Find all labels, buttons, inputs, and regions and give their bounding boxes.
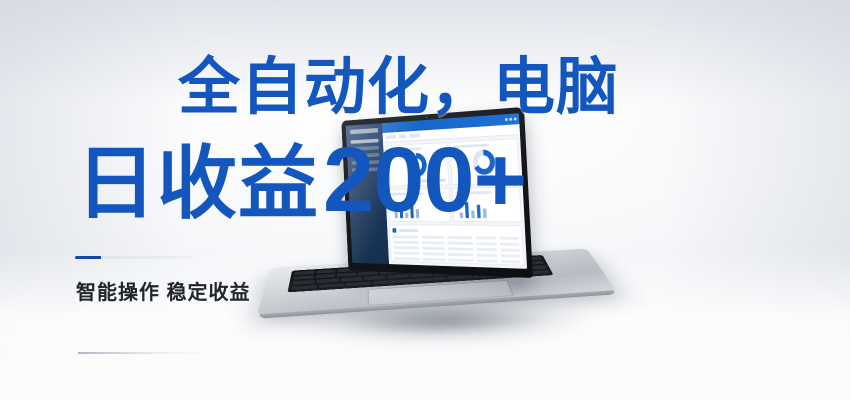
footer-rule [78, 352, 210, 354]
topbar-dot-icon[interactable] [514, 117, 517, 120]
subtitle-accent-rule [75, 256, 193, 259]
table-title [398, 229, 418, 232]
webcam-icon [425, 116, 427, 119]
card-label [455, 191, 491, 195]
toolbar-chip[interactable] [409, 133, 420, 137]
topbar-dot-icon[interactable] [509, 118, 512, 121]
dashboard-main [382, 113, 527, 269]
dashboard-table[interactable] [389, 225, 524, 266]
dashboard-card-row [385, 138, 520, 187]
metric-card-donut[interactable] [449, 138, 520, 185]
metric-card-donut[interactable] [385, 142, 449, 187]
donut-chart [406, 152, 427, 177]
laptop-lid [341, 107, 533, 278]
table-row[interactable] [393, 241, 520, 246]
donut-chart [472, 149, 495, 175]
sidebar-item[interactable] [351, 146, 379, 151]
metric-card-bars[interactable] [387, 188, 451, 222]
laptop-device [269, 105, 604, 362]
topbar-dot-icon[interactable] [505, 118, 508, 121]
dashboard-card-row [387, 186, 522, 222]
card-label [388, 147, 421, 151]
subtitle-text: 智能操作 稳定收益 [76, 276, 251, 305]
sidebar-logo [350, 128, 378, 134]
table-row[interactable] [394, 257, 521, 264]
bar-chart [455, 196, 518, 218]
card-sublabel [422, 179, 446, 182]
table-header [392, 228, 519, 234]
metric-card-bars[interactable] [452, 186, 522, 222]
card-sublabel [489, 177, 516, 181]
promo-banner: 全自动化，电脑 日收益 200+ 智能操作 稳定收益 [0, 0, 850, 400]
laptop-screen [346, 113, 527, 269]
table-icon [392, 228, 396, 233]
dashboard-content [383, 135, 527, 269]
sidebar-item[interactable] [351, 153, 379, 158]
toolbar-chip[interactable] [399, 134, 406, 138]
sidebar-item[interactable] [352, 167, 380, 172]
sidebar-item[interactable] [352, 160, 380, 165]
table-row[interactable] [392, 235, 519, 240]
bar-chart [391, 198, 448, 219]
card-label [390, 192, 423, 195]
toolbar-chip[interactable] [385, 135, 396, 139]
table-row[interactable] [393, 246, 520, 252]
card-label [453, 144, 489, 149]
sidebar-item[interactable] [351, 139, 379, 144]
